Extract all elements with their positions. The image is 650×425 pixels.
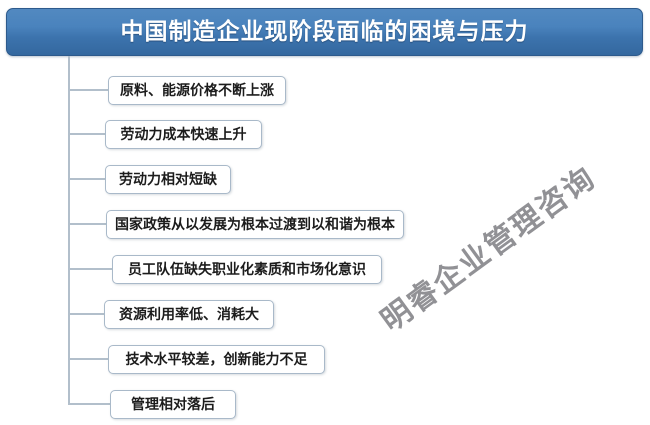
item-label: 劳动力相对短缺 <box>119 173 217 187</box>
item-label: 技术水平较差，创新能力不足 <box>126 353 308 367</box>
page-title: 中国制造企业现阶段面临的困境与压力 <box>121 21 529 44</box>
connector-stub <box>68 133 105 135</box>
item-box[interactable]: 劳动力成本快速上升 <box>105 120 262 149</box>
connector-stub <box>68 223 106 225</box>
item-box[interactable]: 技术水平较差，创新能力不足 <box>108 345 325 374</box>
watermark: 明睿企业管理咨询 <box>370 154 603 340</box>
item-box[interactable]: 原料、能源价格不断上涨 <box>108 76 286 105</box>
connector-stub <box>68 403 110 405</box>
item-box[interactable]: 劳动力相对短缺 <box>105 165 231 194</box>
connector-spine <box>68 56 70 404</box>
item-label: 劳动力成本快速上升 <box>121 128 247 142</box>
connector-stub <box>68 89 108 91</box>
connector-stub <box>68 313 104 315</box>
connector-stub <box>68 268 112 270</box>
diagram-canvas: 中国制造企业现阶段面临的困境与压力 原料、能源价格不断上涨劳动力成本快速上升劳动… <box>0 0 650 425</box>
connector-stub <box>68 358 108 360</box>
item-box[interactable]: 员工队伍缺失职业化素质和市场化意识 <box>112 255 382 284</box>
item-label: 国家政策从以发展为根本过渡到以和谐为根本 <box>115 218 395 232</box>
item-label: 资源利用率低、消耗大 <box>119 308 259 322</box>
item-label: 员工队伍缺失职业化素质和市场化意识 <box>128 263 366 277</box>
item-label: 原料、能源价格不断上涨 <box>120 84 274 98</box>
item-box[interactable]: 国家政策从以发展为根本过渡到以和谐为根本 <box>106 210 404 239</box>
connector-stub <box>68 178 105 180</box>
item-label: 管理相对落后 <box>131 398 215 412</box>
item-box[interactable]: 管理相对落后 <box>110 390 236 419</box>
title-banner: 中国制造企业现阶段面临的困境与压力 <box>6 8 643 56</box>
item-box[interactable]: 资源利用率低、消耗大 <box>104 300 274 329</box>
